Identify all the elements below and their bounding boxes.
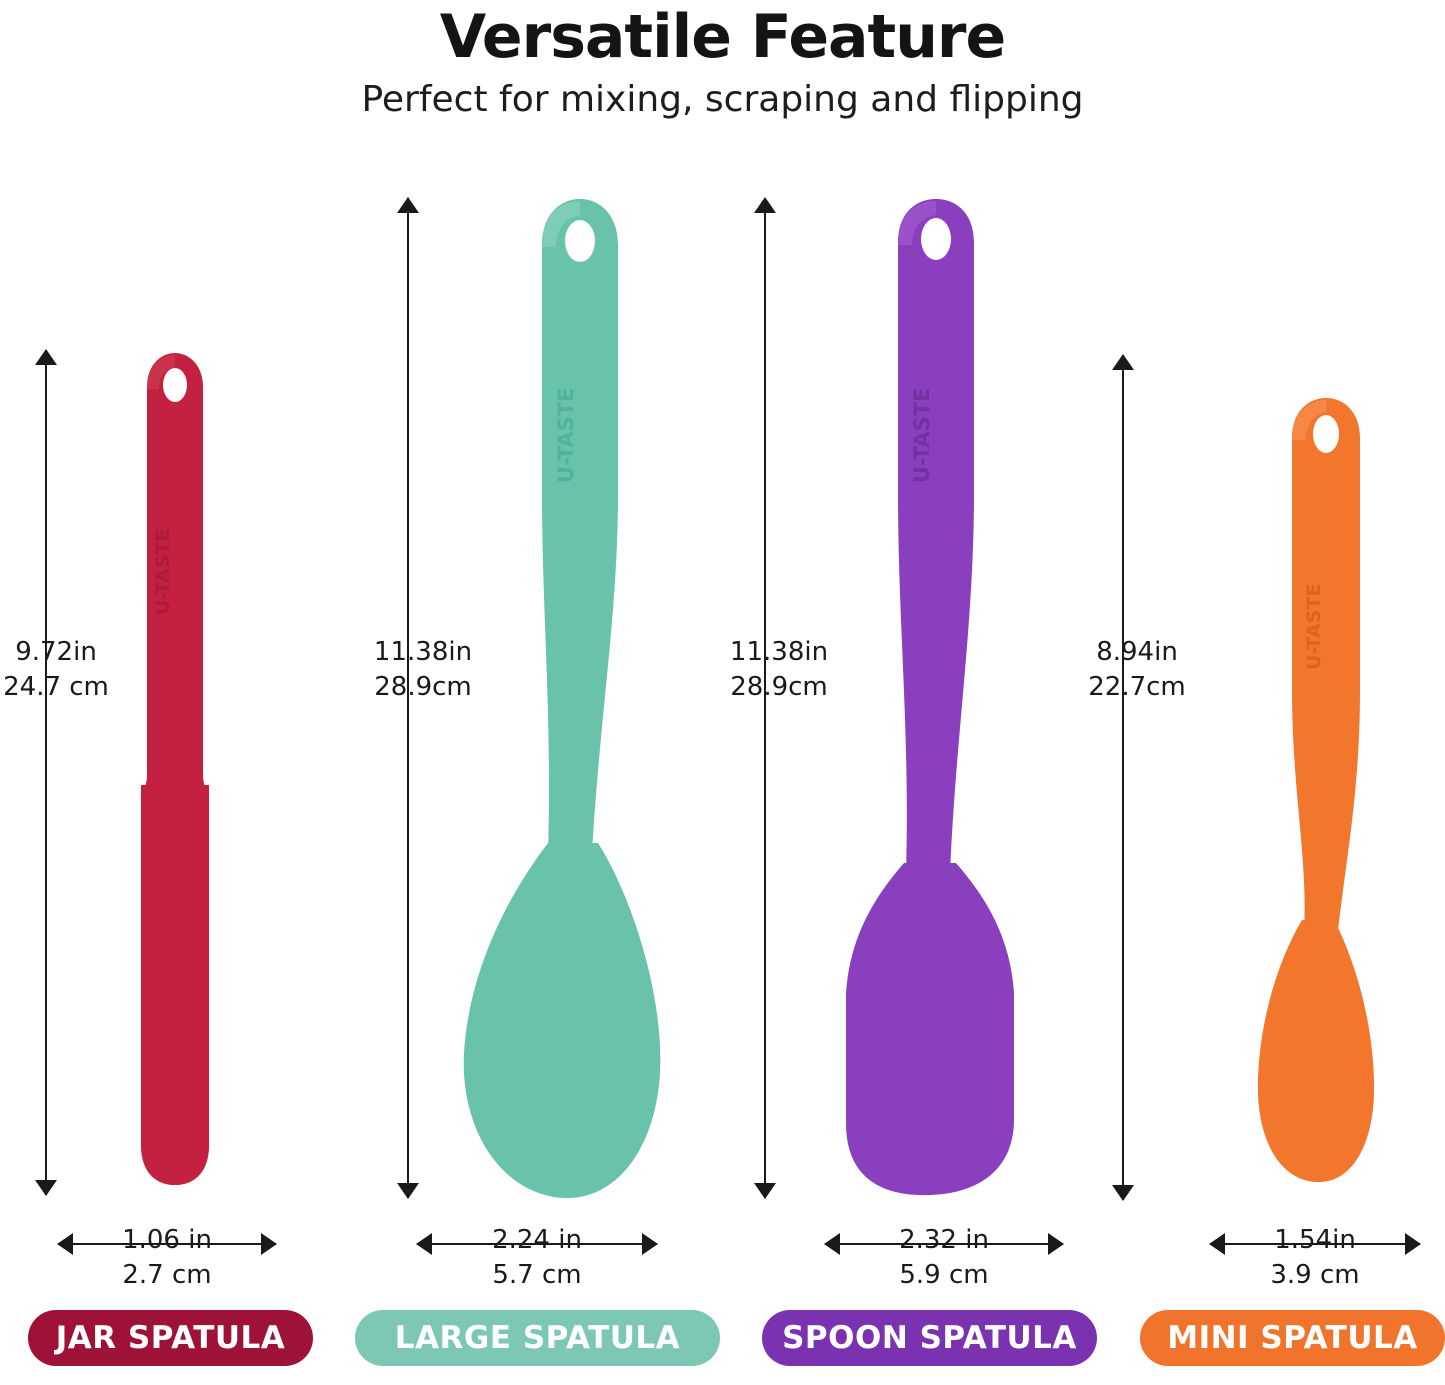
page-title: Versatile Feature [0, 6, 1445, 69]
length-dimension-bar [26, 350, 66, 1195]
mini-spatula-svg: U-TASTE [1250, 390, 1445, 1200]
product-name-pills: JAR SPATULA LARGE SPATULA SPOON SPATULA … [0, 1310, 1445, 1372]
jar-spatula-image: U-TASTE [85, 345, 285, 1209]
product-column-jar-spatula: 9.72in 24.7 cm U-TASTE 1.06 in 2.7 cm [0, 175, 355, 1295]
product-column-spoon-spatula: 11.38in 28.9cm U-TASTE 2.32 in 5.9 cm [715, 175, 1075, 1295]
dimension-line [1122, 355, 1124, 1200]
length-label: 8.94in 22.7cm [1067, 635, 1207, 705]
pill-jar-spatula[interactable]: JAR SPATULA [28, 1310, 313, 1366]
svg-text:U-TASTE: U-TASTE [554, 388, 578, 483]
page-subtitle: Perfect for mixing, scraping and flippin… [0, 79, 1445, 120]
product-columns: 9.72in 24.7 cm U-TASTE 1.06 in 2.7 cm [0, 175, 1445, 1295]
pill-mini-spatula[interactable]: MINI SPATULA [1140, 1310, 1445, 1366]
svg-text:U-TASTE: U-TASTE [910, 388, 934, 483]
spoon-spatula-image: U-TASTE [790, 193, 1060, 1217]
width-label-cm: 3.9 cm [1210, 1258, 1420, 1293]
spoon-spatula-svg: U-TASTE [790, 193, 1060, 1213]
product-column-mini-spatula: 8.94in 22.7cm U-TASTE 1.54in 3.9 cm [1075, 175, 1445, 1295]
width-label-cm: 2.7 cm [58, 1258, 276, 1293]
large-spatula-image: U-TASTE [430, 193, 690, 1217]
large-spatula-svg: U-TASTE [430, 193, 690, 1213]
jar-spatula-svg: U-TASTE [85, 345, 285, 1205]
width-label-inches: 1.06 in [58, 1223, 276, 1258]
pill-spoon-spatula[interactable]: SPOON SPATULA [762, 1310, 1097, 1366]
length-cm: 22.7cm [1067, 670, 1207, 705]
width-label-inches: 2.24 in [417, 1223, 657, 1258]
pill-large-spatula[interactable]: LARGE SPATULA [355, 1310, 720, 1366]
arrow-down-icon [1112, 1185, 1134, 1201]
dimension-line [45, 350, 47, 1195]
product-column-large-spatula: 11.38in 28.9cm U-TASTE 2.24 in 5.7 cm [355, 175, 715, 1295]
width-label-cm: 5.7 cm [417, 1258, 657, 1293]
length-inches: 8.94in [1067, 635, 1207, 670]
length-dimension-bar [1103, 355, 1143, 1200]
header-block: Versatile Feature Perfect for mixing, sc… [0, 0, 1445, 120]
svg-text:U-TASTE: U-TASTE [152, 529, 174, 615]
width-label-inches: 2.32 in [825, 1223, 1063, 1258]
arrow-down-icon [397, 1183, 419, 1199]
arrow-down-icon [754, 1183, 776, 1199]
mini-spatula-image: U-TASTE [1250, 390, 1445, 1204]
arrow-down-icon [35, 1180, 57, 1196]
width-label-inches: 1.54in [1210, 1223, 1420, 1258]
width-label-cm: 5.9 cm [825, 1258, 1063, 1293]
svg-text:U-TASTE: U-TASTE [1303, 584, 1325, 670]
